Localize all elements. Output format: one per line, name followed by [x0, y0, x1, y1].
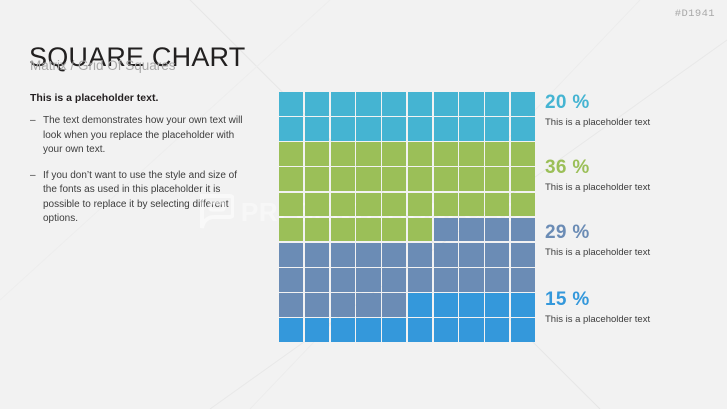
grid-cell	[356, 117, 380, 141]
legend-description: This is a placeholder text	[545, 246, 720, 259]
grid-cell	[434, 117, 458, 141]
grid-cell	[382, 117, 406, 141]
grid-cell	[459, 92, 483, 116]
grid-cell	[382, 293, 406, 317]
grid-cell	[331, 243, 355, 267]
grid-cell	[408, 117, 432, 141]
grid-cell	[434, 318, 458, 342]
grid-cell	[408, 92, 432, 116]
grid-cell	[408, 218, 432, 242]
grid-cell	[459, 243, 483, 267]
document-id-label: #D1941	[675, 8, 715, 20]
legend-value: 20 %	[545, 92, 720, 114]
grid-cell	[382, 193, 406, 217]
grid-cell	[511, 218, 535, 242]
grid-cell	[305, 92, 329, 116]
bullet-dash-icon: –	[30, 114, 43, 158]
grid-cell	[279, 92, 303, 116]
grid-cell	[305, 167, 329, 191]
grid-cell	[279, 243, 303, 267]
legend-value: 36 %	[545, 157, 720, 179]
grid-cell	[459, 268, 483, 292]
grid-cell	[356, 167, 380, 191]
grid-cell	[382, 218, 406, 242]
grid-cell	[382, 268, 406, 292]
square-grid-chart	[279, 92, 535, 342]
placeholder-text-block: This is a placeholder text. – The text d…	[30, 92, 245, 238]
grid-cell	[511, 167, 535, 191]
grid-cell	[356, 243, 380, 267]
legend-item: 36 %This is a placeholder text	[545, 157, 720, 194]
grid-cell	[356, 318, 380, 342]
grid-cell	[305, 243, 329, 267]
grid-cell	[279, 318, 303, 342]
grid-cell	[305, 318, 329, 342]
list-item: – If you don’t want to use the style and…	[30, 169, 245, 227]
grid-cell	[485, 218, 509, 242]
grid-cell	[459, 293, 483, 317]
grid-cell	[434, 167, 458, 191]
grid-cell	[279, 117, 303, 141]
bullet-dash-icon: –	[30, 169, 43, 227]
grid-cell	[485, 92, 509, 116]
list-item: – The text demonstrates how your own tex…	[30, 114, 245, 158]
grid-cell	[459, 142, 483, 166]
grid-cell	[434, 92, 458, 116]
grid-cell	[434, 193, 458, 217]
legend-description: This is a placeholder text	[545, 116, 720, 129]
grid-cell	[331, 142, 355, 166]
grid-cell	[331, 193, 355, 217]
grid-cell	[279, 167, 303, 191]
grid-cell	[485, 293, 509, 317]
legend-item: 20 %This is a placeholder text	[545, 92, 720, 129]
grid-cell	[408, 142, 432, 166]
grid-cell	[511, 193, 535, 217]
grid-cell	[511, 92, 535, 116]
grid-cell	[459, 117, 483, 141]
grid-cell	[331, 167, 355, 191]
legend-description: This is a placeholder text	[545, 181, 720, 194]
grid-cell	[279, 268, 303, 292]
grid-cell	[356, 142, 380, 166]
grid-cell	[485, 243, 509, 267]
list-item-text: The text demonstrates how your own text …	[43, 114, 245, 158]
grid-cell	[511, 142, 535, 166]
grid-cell	[408, 318, 432, 342]
grid-cell	[331, 92, 355, 116]
legend-value: 15 %	[545, 289, 720, 311]
grid-cell	[356, 193, 380, 217]
grid-cell	[511, 243, 535, 267]
grid-cell	[434, 243, 458, 267]
grid-cell	[434, 268, 458, 292]
grid-cell	[485, 193, 509, 217]
grid-cell	[408, 293, 432, 317]
grid-cell	[305, 293, 329, 317]
placeholder-heading: This is a placeholder text.	[30, 92, 245, 105]
grid-cell	[331, 318, 355, 342]
grid-cell	[434, 293, 458, 317]
grid-cell	[408, 167, 432, 191]
grid-cell	[305, 193, 329, 217]
slide-canvas: #D1941 SQUARE CHART Matrix / Grid Of Squ…	[0, 0, 727, 409]
grid-cell	[382, 167, 406, 191]
page-subtitle: Matrix / Grid Of Squares	[30, 58, 176, 74]
legend-value: 29 %	[545, 222, 720, 244]
grid-cell	[511, 318, 535, 342]
grid-cell	[434, 218, 458, 242]
grid-cell	[459, 193, 483, 217]
grid-cell	[279, 142, 303, 166]
grid-cell	[485, 142, 509, 166]
grid-cell	[356, 293, 380, 317]
grid-cell	[459, 167, 483, 191]
grid-cell	[279, 293, 303, 317]
grid-cell	[356, 268, 380, 292]
grid-cell	[279, 218, 303, 242]
grid-cell	[485, 167, 509, 191]
grid-cell	[382, 142, 406, 166]
grid-cell	[331, 293, 355, 317]
grid-cell	[305, 142, 329, 166]
grid-cell	[305, 218, 329, 242]
grid-cell	[382, 243, 406, 267]
grid-cell	[485, 117, 509, 141]
grid-cell	[408, 193, 432, 217]
grid-cell	[356, 218, 380, 242]
grid-cell	[459, 318, 483, 342]
grid-cell	[485, 268, 509, 292]
grid-cell	[511, 268, 535, 292]
legend-item: 15 %This is a placeholder text	[545, 289, 720, 326]
list-item-text: If you don’t want to use the style and s…	[43, 169, 245, 227]
grid-cell	[331, 218, 355, 242]
grid-cell	[459, 218, 483, 242]
grid-cell	[511, 117, 535, 141]
grid-cell	[279, 193, 303, 217]
grid-cell	[485, 318, 509, 342]
grid-cell	[305, 117, 329, 141]
grid-cell	[434, 142, 458, 166]
grid-cell	[408, 243, 432, 267]
grid-cell	[408, 268, 432, 292]
grid-cell	[331, 117, 355, 141]
legend-item: 29 %This is a placeholder text	[545, 222, 720, 259]
grid-cell	[331, 268, 355, 292]
grid-cell	[356, 92, 380, 116]
grid-cell	[382, 318, 406, 342]
grid-cell	[382, 92, 406, 116]
legend-description: This is a placeholder text	[545, 313, 720, 326]
grid-cell	[305, 268, 329, 292]
grid-cell	[511, 293, 535, 317]
